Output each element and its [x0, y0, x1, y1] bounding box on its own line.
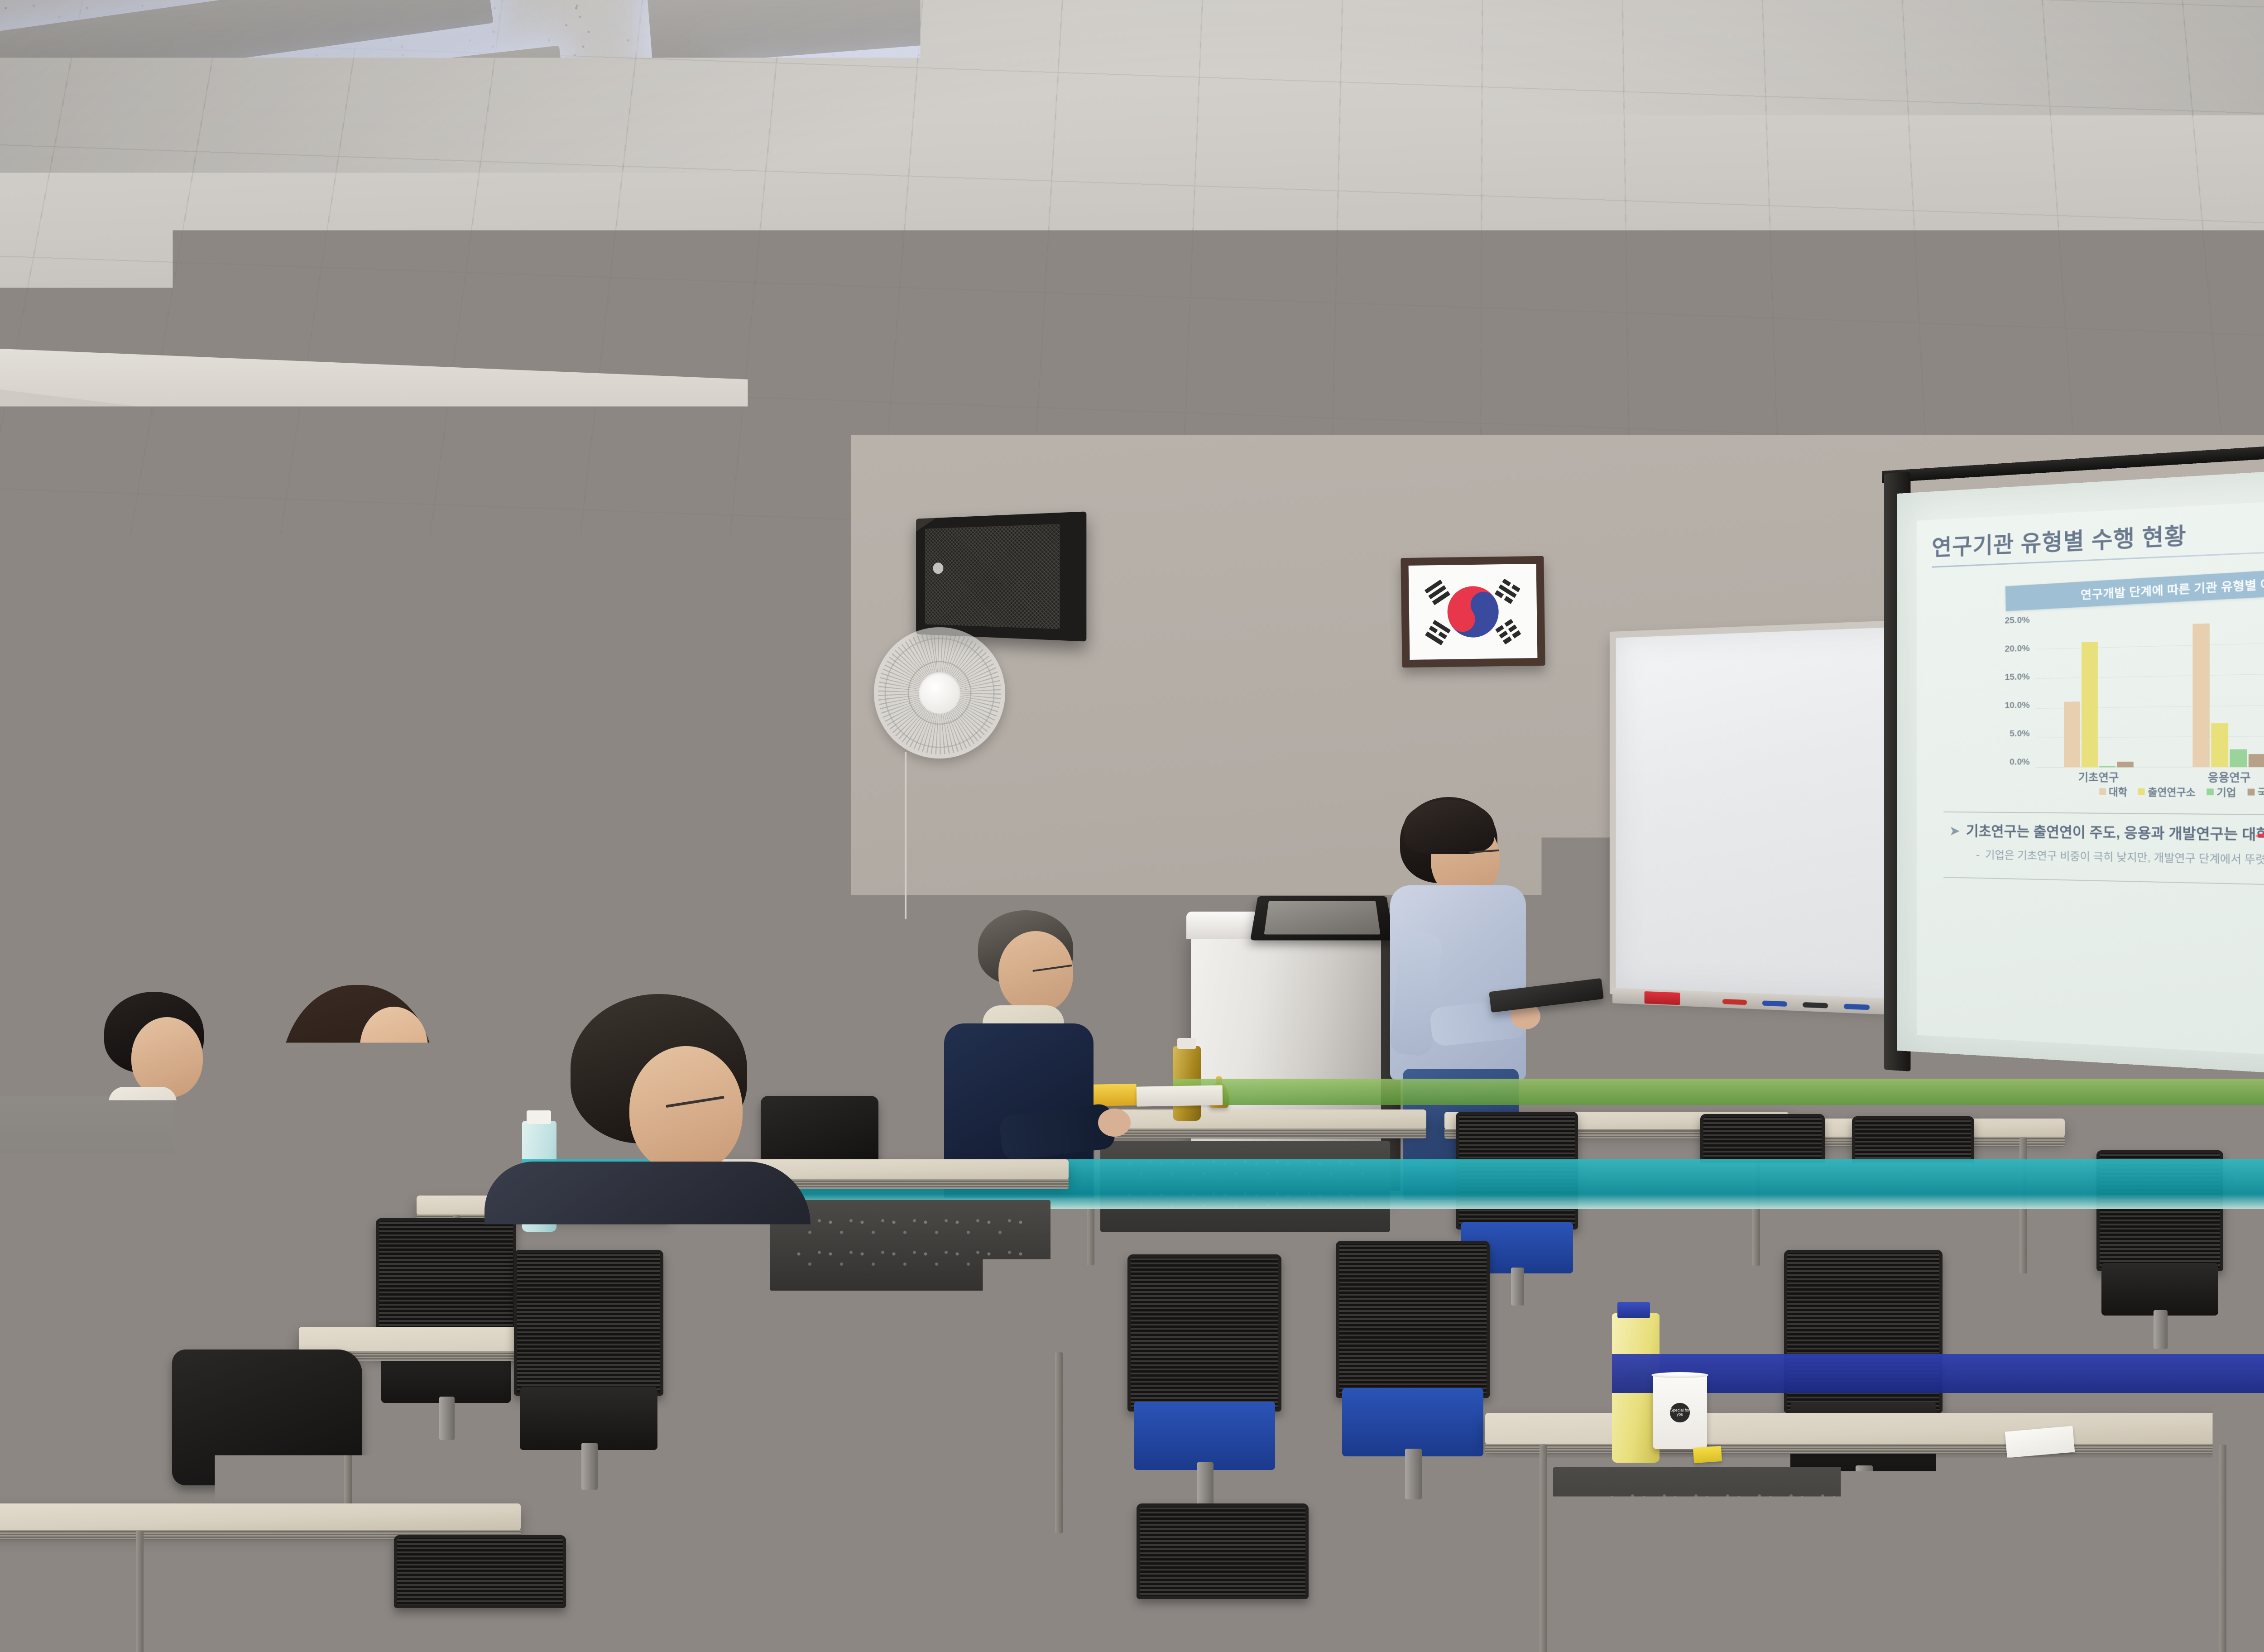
- chair-seat: [1134, 1402, 1276, 1470]
- chair-backrest: [394, 1535, 566, 1608]
- chart-bar: [2117, 762, 2133, 767]
- slide-title: 연구기관 유형별 수행 현황: [1932, 500, 2264, 562]
- desk: [1485, 1413, 2264, 1445]
- legend-label: 국공립연구소: [2258, 784, 2264, 799]
- chair-post: [1405, 1449, 1422, 1499]
- legend-swatch: [2138, 788, 2145, 795]
- blind-slats: [0, 457, 345, 738]
- legend-item: 기업: [2206, 784, 2236, 799]
- chart-x-axis: 기초연구 응용연구 개발연구: [2036, 768, 2264, 784]
- bullet-secondary: - 기업은 기초연구 비중이 극히 낮지만, 개발연구 단계에서 뚜렷하게 증가…: [1976, 848, 2264, 872]
- bottle-cap-blue: [1617, 1302, 1650, 1318]
- attendee-1-head: [131, 1017, 203, 1098]
- seminar-room-photo: 연구기관 유형별 수행 현황 연구개발 단계에 따른 기관 유형별 예산('05…: [0, 0, 2264, 1652]
- wall-speaker: [916, 511, 1086, 641]
- bottle-cap: [1177, 1038, 1196, 1049]
- cup-logo: Special for you: [1670, 1403, 1689, 1422]
- legend-swatch: [2099, 788, 2106, 795]
- cup-logo-text: Special for you: [1670, 1403, 1689, 1422]
- chart-title-banner: 연구개발 단계에 따른 기관 유형별 예산('05~'17): [2005, 561, 2264, 611]
- chart-bar: [2099, 766, 2115, 767]
- presentation-slide: 연구기관 유형별 수행 현황 연구개발 단계에 따른 기관 유형별 예산('05…: [1917, 488, 2264, 1069]
- chart-bar: [2064, 702, 2080, 767]
- bottle-label-mineral: [1612, 1354, 2264, 1393]
- desk: [0, 1503, 521, 1531]
- attendee-4-hand: [1098, 1109, 1131, 1137]
- presenter-hair-fringe: [1404, 800, 1494, 854]
- fan-pull-cord[interactable]: [905, 752, 907, 919]
- projection-screen: 연구기관 유형별 수행 현황 연구개발 단계에 따른 기관 유형별 예산('05…: [1897, 455, 2264, 1089]
- korean-flag: [1409, 564, 1538, 660]
- y-tick: 0.0%: [2010, 758, 2029, 768]
- whiteboard-marker[interactable]: [1803, 1002, 1828, 1008]
- x-tick: 기초연구: [2078, 768, 2119, 784]
- trigram-geon: [1425, 579, 1450, 605]
- folded-jacket: [1947, 1454, 2264, 1652]
- legend-swatch: [2247, 788, 2254, 795]
- chair[interactable]: [514, 1250, 663, 1485]
- chair-seat: [520, 1387, 657, 1450]
- chart-bar: [2230, 749, 2247, 767]
- trigram-ri: [1425, 620, 1451, 645]
- chair-post: [439, 1397, 455, 1440]
- legend-swatch: [2206, 788, 2214, 795]
- chair[interactable]: [1336, 1241, 1490, 1494]
- y-tick: 10.0%: [2005, 701, 2029, 711]
- window-blind: [323, 490, 664, 763]
- sugar-packet[interactable]: [1693, 1446, 1722, 1463]
- bullet-arrow-icon: ➤: [1950, 822, 1960, 839]
- bullet-dash-icon: -: [1976, 848, 1980, 862]
- slide-divider: [1943, 811, 2264, 816]
- chart-bar: [2211, 723, 2229, 767]
- chart-y-axis: 25.0% 20.0% 15.0% 10.0% 5.0% 0.0%: [1984, 615, 2034, 768]
- chair-backrest: [168, 1205, 303, 1336]
- whiteboard-eraser[interactable]: [1645, 991, 1680, 1005]
- chair-post: [1511, 1268, 1525, 1306]
- korean-flag-frame: [1401, 556, 1545, 668]
- blind-slats: [323, 490, 664, 763]
- handbag[interactable]: [172, 1349, 362, 1485]
- taeguk-symbol: [1438, 576, 1508, 647]
- legend-item: 국공립연구소: [2247, 784, 2264, 799]
- chart-legend: 대학출연연구소기업국공립연구소: [1932, 784, 2264, 801]
- slide-divider: [1943, 877, 2264, 890]
- bar-chart: 25.0% 20.0% 15.0% 10.0% 5.0% 0.0% 기초연구 응…: [1984, 607, 2264, 784]
- legend-label: 대학: [2109, 784, 2127, 799]
- projector-vents: [1681, 362, 1774, 410]
- chair-backrest: [1336, 1241, 1490, 1398]
- attendee-3-hand: [797, 1476, 847, 1512]
- desk: [299, 1327, 1123, 1352]
- whiteboard-marker[interactable]: [1844, 1004, 1870, 1010]
- chair-backrest: [514, 1250, 663, 1396]
- attendee-4-head: [998, 931, 1073, 1013]
- trigram-gam: [1495, 578, 1521, 604]
- whiteboard-marker[interactable]: [1762, 1000, 1787, 1007]
- chart-plot-area: [2036, 607, 2264, 767]
- attendee-2-head: [360, 1007, 428, 1087]
- bullet-primary-text: 기초연구는 출연연이 주도, 응용과 개발연구는 대학 주도하에 기업 비중이 …: [1966, 822, 2264, 847]
- legend-item: 출연연구소: [2138, 784, 2196, 799]
- chair-post: [1756, 1274, 1770, 1313]
- chart-bar-group: [2064, 617, 2134, 767]
- desk-leg: [136, 1531, 144, 1652]
- chart-bar-group: [2193, 613, 2264, 767]
- whiteboard: [1610, 619, 1925, 1006]
- y-tick: 15.0%: [2005, 672, 2029, 683]
- desk-leg: [1540, 1445, 1547, 1652]
- bullet-primary: ➤ 기초연구는 출연연이 주도, 응용과 개발연구는 대학 주도하에 기업 비중…: [1950, 822, 2264, 847]
- legend-label: 기업: [2216, 784, 2236, 799]
- desk-leg: [1055, 1352, 1063, 1533]
- legend-label: 출연연구소: [2148, 784, 2196, 799]
- window-blind: [0, 457, 345, 738]
- attendee-2-coat-collar: [317, 1107, 430, 1171]
- coffee-cup[interactable]: Special for you: [1653, 1374, 1707, 1449]
- screen-surface: 연구기관 유형별 수행 현황 연구개발 단계에 따른 기관 유형별 예산('05…: [1897, 455, 2264, 1089]
- chair[interactable]: [394, 1535, 566, 1652]
- chair-backrest: [1127, 1254, 1281, 1412]
- x-tick: 응용연구: [2208, 768, 2251, 785]
- smartphone[interactable]: [1000, 1375, 1098, 1402]
- legend-item: 대학: [2099, 784, 2128, 799]
- chair[interactable]: [1127, 1254, 1281, 1508]
- chart-bar: [2249, 754, 2264, 767]
- lectern-monitor: [1250, 896, 1394, 941]
- chair-backrest: [1137, 1503, 1309, 1599]
- document-boxes: [1137, 1085, 1223, 1106]
- y-tick: 20.0%: [2005, 644, 2029, 654]
- bottle-label: [1173, 1079, 2264, 1105]
- chair-seat: [2101, 1263, 2218, 1316]
- chair[interactable]: [1137, 1503, 1309, 1652]
- slide-bullets: ➤ 기초연구는 출연연이 주도, 응용과 개발연구는 대학 주도하에 기업 비중…: [1950, 822, 2264, 872]
- attendee-3-head: [629, 1046, 743, 1173]
- y-tick: 5.0%: [2010, 729, 2029, 740]
- chair-post: [2154, 1310, 2168, 1349]
- trigram-gon: [1496, 619, 1521, 644]
- chart-bar: [2193, 624, 2210, 767]
- chart-bar: [2082, 642, 2098, 767]
- window-blind: [642, 523, 893, 778]
- whiteboard-marker[interactable]: [1722, 999, 1747, 1005]
- blind-slats: [642, 523, 893, 778]
- chair-seat: [1342, 1388, 1484, 1456]
- chair-post: [581, 1443, 598, 1490]
- y-tick: 25.0%: [2005, 615, 2029, 626]
- bullet-secondary-text: 기업은 기초연구 비중이 극히 낮지만, 개발연구 단계에서 뚜렷하게 증가, …: [1985, 848, 2264, 871]
